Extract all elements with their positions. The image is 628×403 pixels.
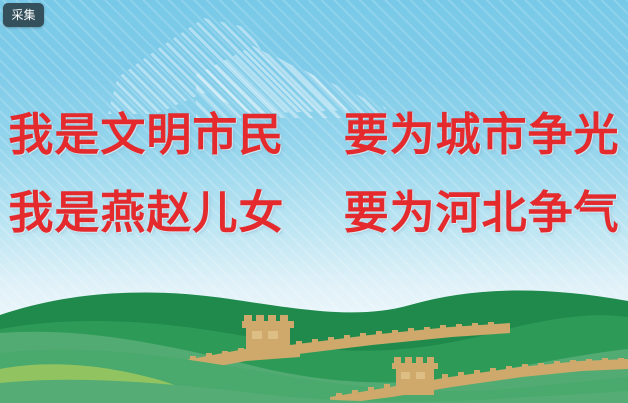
- headline-line-2: 我是燕赵儿女 要为河北争气: [0, 174, 628, 252]
- landscape-illustration: [0, 283, 628, 403]
- headline-line-1: 我是文明市民 要为城市争光: [0, 96, 628, 174]
- headline-block: 我是文明市民 要为城市争光 我是燕赵儿女 要为河北争气: [0, 96, 628, 252]
- headline-line-1-right: 要为城市争光: [344, 108, 620, 161]
- capture-button[interactable]: 采集: [3, 3, 44, 27]
- headline-line-1-left: 我是文明市民: [8, 108, 284, 161]
- headline-line-2-right: 要为河北争气: [344, 186, 620, 239]
- headline-line-2-left: 我是燕赵儿女: [8, 186, 284, 239]
- banner-screenshot: 我是文明市民 要为城市争光 我是燕赵儿女 要为河北争气 采集: [0, 0, 628, 403]
